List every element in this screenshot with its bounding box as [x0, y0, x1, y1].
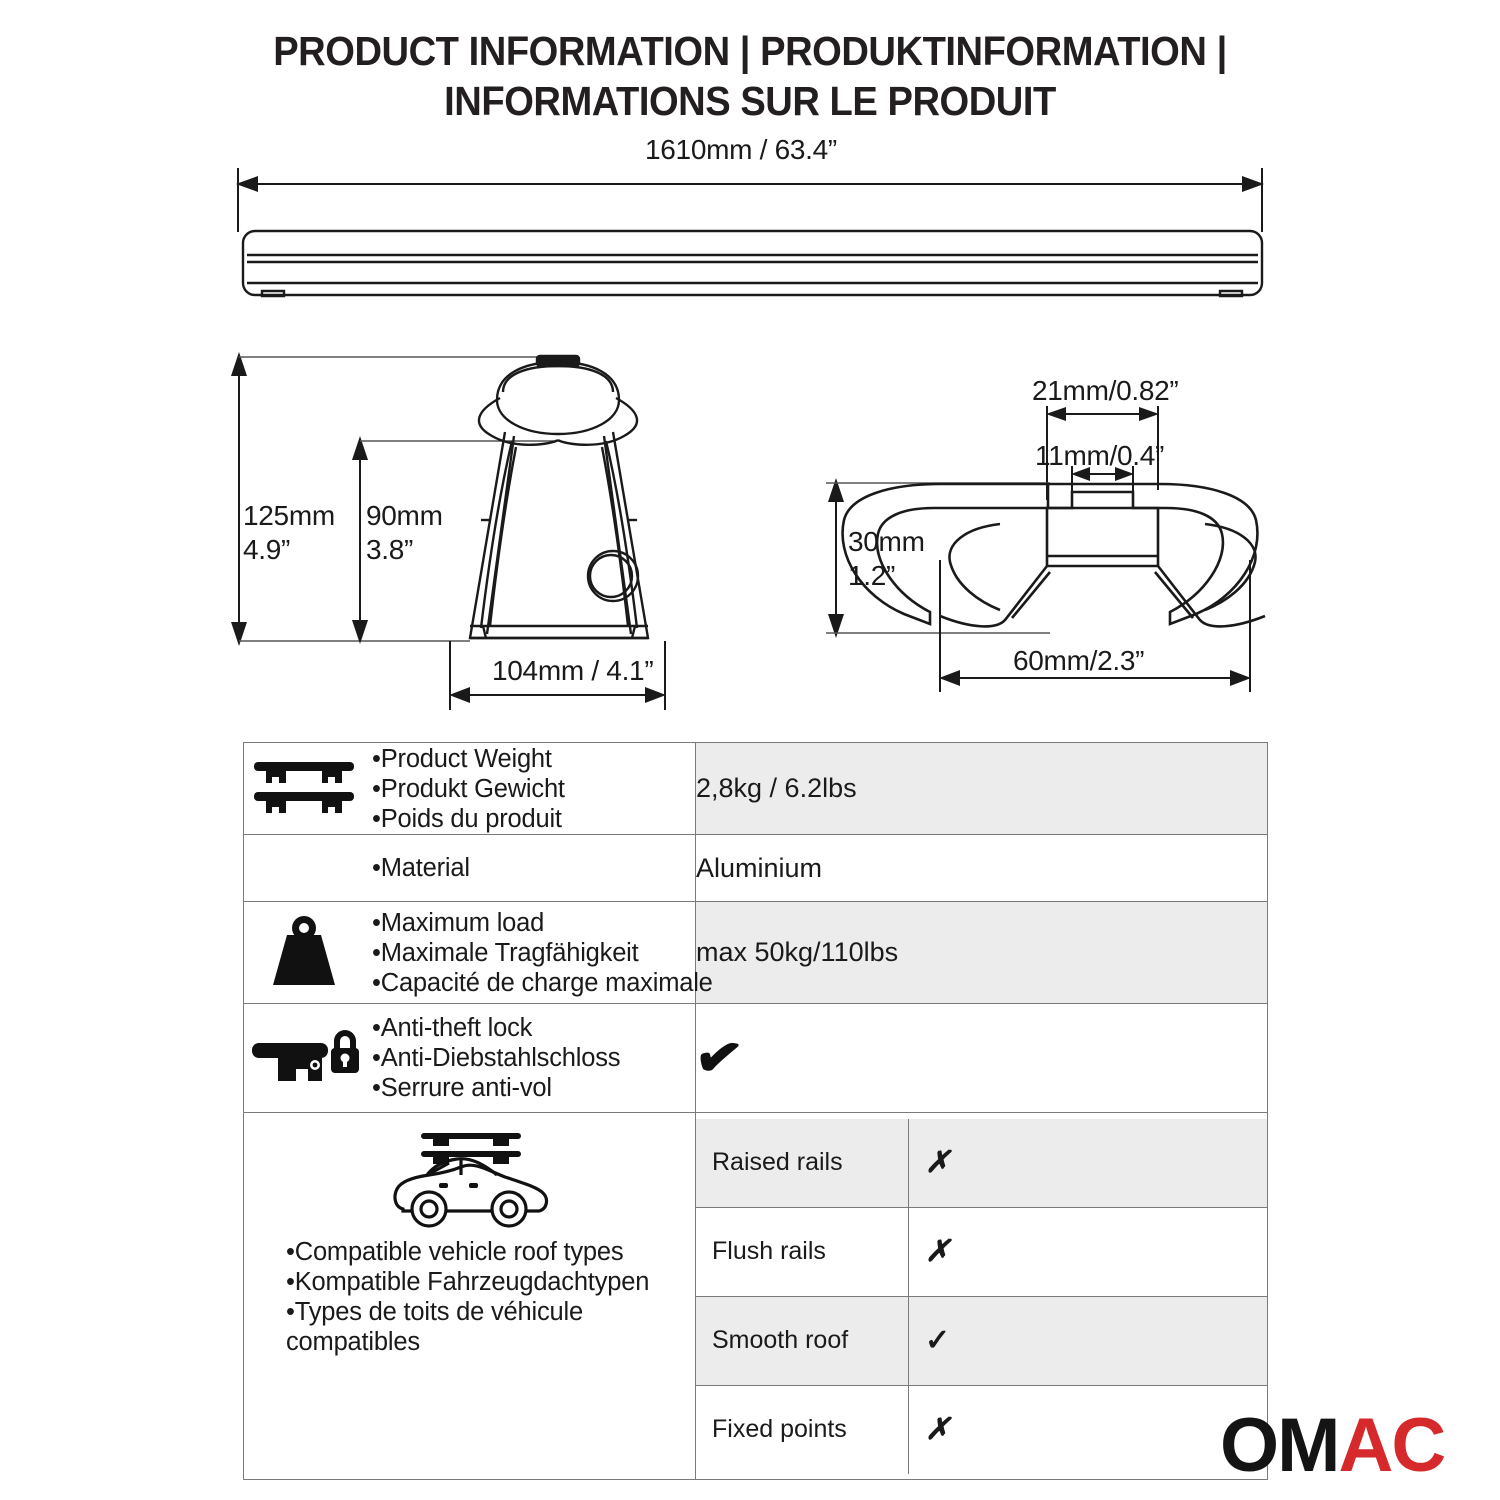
logo-red-text: AC	[1338, 1403, 1444, 1488]
label-line: •Material	[372, 853, 470, 883]
label-line: •Maximum load	[372, 908, 713, 938]
foot-total-height-label-line1: 125mm	[243, 500, 335, 532]
label-line: •Poids du produit	[372, 804, 565, 834]
weight-label-lines: •Product Weight •Produkt Gewicht •Poids …	[372, 744, 565, 834]
table-row: •Maximum load •Maximale Tragfähigkeit •C…	[244, 902, 1268, 1004]
foot-total-height-label-line2: 4.9”	[243, 534, 290, 566]
page-title: PRODUCT INFORMATION | PRODUKTINFORMATION…	[0, 26, 1500, 126]
profile-slot-inner-label: 11mm/0.4”	[1035, 440, 1164, 472]
bar-length-dimension-label: 1610mm / 63.4”	[645, 134, 837, 166]
bar-length-dimension-arrow	[236, 168, 1264, 232]
car-with-roof-bars-icon	[244, 1127, 695, 1233]
bar-lock-icon	[244, 1025, 364, 1091]
profile-height-label-line2: 1.2”	[848, 560, 895, 592]
roof-type-row: Flush rails ✗	[696, 1207, 1267, 1296]
cross-icon: ✗	[925, 1235, 950, 1268]
lock-label-cell: •Anti-theft lock •Anti-Diebstahlschloss …	[244, 1004, 696, 1113]
weight-icon	[244, 915, 364, 991]
vehicle-roof-types-label-cell: •Compatible vehicle roof types •Kompatib…	[244, 1113, 696, 1480]
omac-logo: OMAC	[1220, 1408, 1444, 1484]
foot-width-label: 104mm / 4.1”	[492, 655, 653, 687]
max-load-label-lines: •Maximum load •Maximale Tragfähigkeit •C…	[372, 908, 713, 998]
title-line-1: PRODUCT INFORMATION | PRODUKTINFORMATION…	[53, 26, 1448, 76]
check-icon: ✔	[691, 1028, 746, 1088]
title-line-2: INFORMATIONS SUR LE PRODUIT	[53, 76, 1448, 126]
table-row: •Compatible vehicle roof types •Kompatib…	[244, 1113, 1268, 1480]
profile-height-label-line1: 30mm	[848, 526, 925, 558]
roof-type-name: Raised rails	[696, 1119, 909, 1208]
table-row: •Material Aluminium	[244, 835, 1268, 902]
roof-type-name: Fixed points	[696, 1385, 909, 1474]
roof-type-row: Raised rails ✗	[696, 1119, 1267, 1208]
roof-types-table: Raised rails ✗ Flush rails ✗ Smooth roof…	[696, 1119, 1267, 1474]
roof-bar-side-view-icon	[243, 231, 1262, 296]
weight-value-cell: 2,8kg / 6.2lbs	[696, 743, 1268, 835]
roof-type-name: Smooth roof	[696, 1296, 909, 1385]
label-line: compatibles	[286, 1327, 695, 1357]
material-label-lines: •Material	[372, 853, 470, 883]
max-load-value-cell: max 50kg/110lbs	[696, 902, 1268, 1004]
label-line: •Maximale Tragfähigkeit	[372, 938, 713, 968]
roof-type-row: Fixed points ✗	[696, 1385, 1267, 1474]
label-line: •Produkt Gewicht	[372, 774, 565, 804]
cross-icon: ✗	[925, 1413, 950, 1446]
product-spec-table: •Product Weight •Produkt Gewicht •Poids …	[243, 742, 1268, 1480]
two-crossbars-icon	[244, 758, 364, 820]
lock-value-cell: ✔	[696, 1004, 1268, 1113]
profile-slot-outer-label: 21mm/0.82”	[1032, 375, 1178, 407]
label-line: •Types de toits de véhicule	[286, 1297, 695, 1327]
roof-type-mark-cell: ✗	[909, 1385, 1268, 1474]
label-line: •Capacité de charge maximale	[372, 968, 713, 998]
roof-type-name: Flush rails	[696, 1207, 909, 1296]
roof-types-cell: Raised rails ✗ Flush rails ✗ Smooth roof…	[696, 1113, 1268, 1480]
weight-label-cell: •Product Weight •Produkt Gewicht •Poids …	[244, 743, 696, 835]
roof-rack-foot-front-view-icon	[470, 356, 648, 638]
roof-type-mark-cell: ✗	[909, 1207, 1268, 1296]
label-line: •Anti-Diebstahlschloss	[372, 1043, 620, 1073]
profile-width-label: 60mm/2.3”	[1013, 645, 1144, 677]
label-line: •Product Weight	[372, 744, 565, 774]
material-value-cell: Aluminium	[696, 835, 1268, 902]
label-line: •Anti-theft lock	[372, 1013, 620, 1043]
material-label-cell: •Material	[244, 835, 696, 902]
label-line: •Compatible vehicle roof types	[286, 1237, 695, 1267]
check-icon: ✓	[925, 1324, 950, 1357]
table-row: •Product Weight •Produkt Gewicht •Poids …	[244, 743, 1268, 835]
roof-type-mark-cell: ✓	[909, 1296, 1268, 1385]
foot-inner-height-label-line1: 90mm	[366, 500, 443, 532]
cross-icon: ✗	[925, 1146, 950, 1179]
label-line: •Serrure anti-vol	[372, 1073, 620, 1103]
label-line: •Kompatible Fahrzeugdachtypen	[286, 1267, 695, 1297]
table-row: •Anti-theft lock •Anti-Diebstahlschloss …	[244, 1004, 1268, 1113]
max-load-label-cell: •Maximum load •Maximale Tragfähigkeit •C…	[244, 902, 696, 1004]
lock-label-lines: •Anti-theft lock •Anti-Diebstahlschloss …	[372, 1013, 620, 1103]
roof-type-row: Smooth roof ✓	[696, 1296, 1267, 1385]
logo-dark-text: OM	[1220, 1403, 1338, 1488]
vehicle-roof-types-label-lines: •Compatible vehicle roof types •Kompatib…	[244, 1237, 695, 1357]
foot-inner-height-label-line2: 3.8”	[366, 534, 413, 566]
roof-type-mark-cell: ✗	[909, 1119, 1268, 1208]
